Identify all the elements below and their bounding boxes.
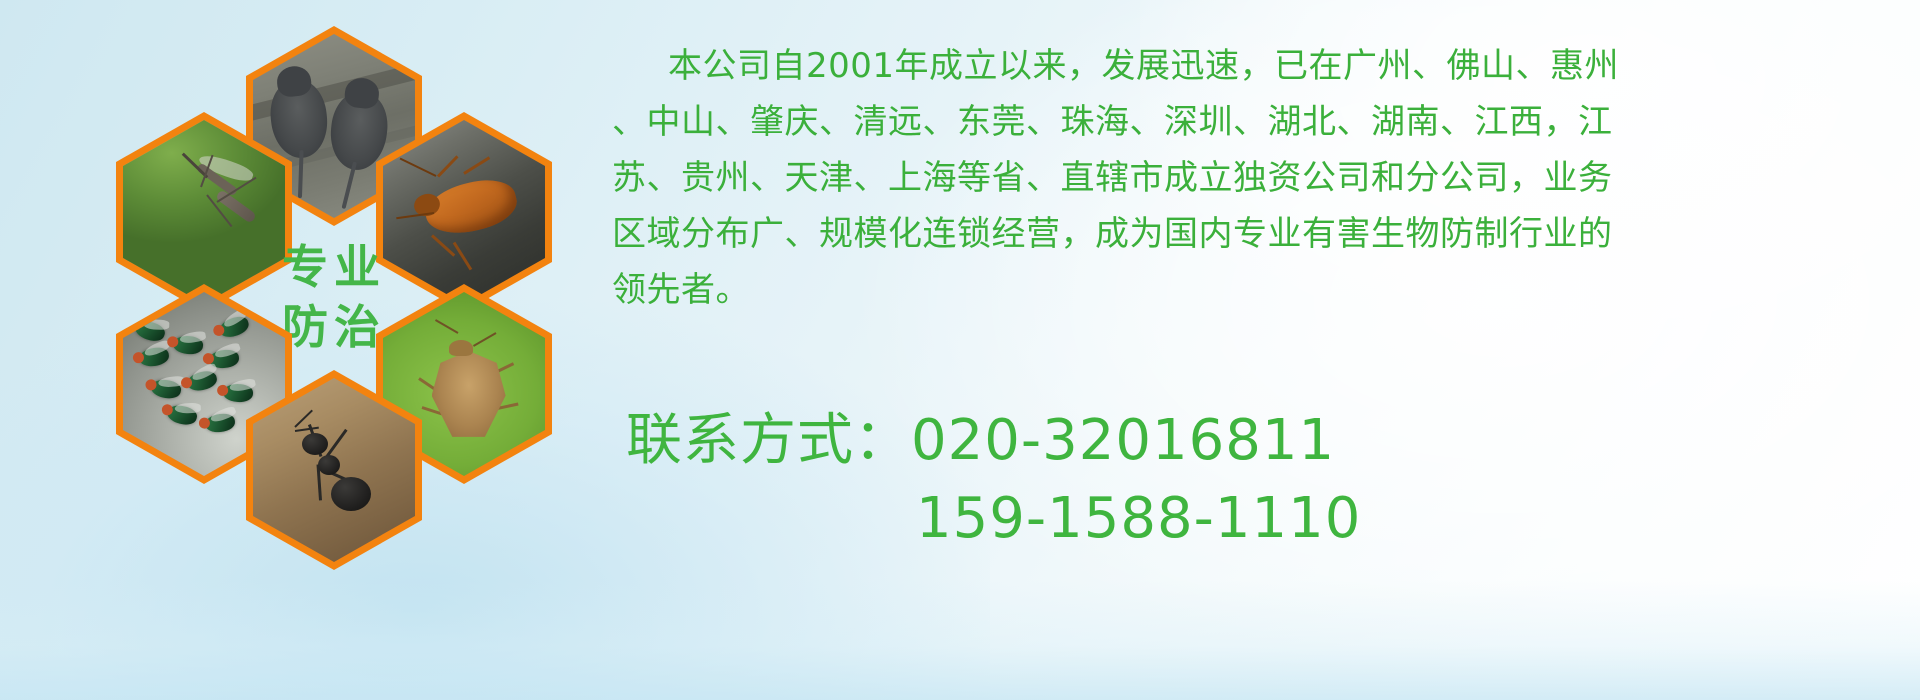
intro-line-3: 苏、贵州、天津、上海等省、直辖市成立独资公司和分公司，业务 <box>612 150 1902 206</box>
ant-photo <box>253 378 415 562</box>
intro-line-4: 区域分布广、规模化连锁经营，成为国内专业有害生物防制行业的 <box>612 206 1902 262</box>
center-label-line2: 防治 <box>282 298 386 358</box>
intro-line-5: 领先者。 <box>612 262 1902 318</box>
contact-block: 联系方式：020-32016811 159-1588-1110 <box>626 402 1826 558</box>
contact-phone-mobile[interactable]: 159-1588-1110 <box>626 480 1826 558</box>
center-label-line1: 专业 <box>282 238 386 298</box>
intro-line-1: 本公司自2001年成立以来，发展迅速，已在广州、佛山、惠州 <box>612 38 1902 94</box>
contact-phone-landline[interactable]: 联系方式：020-32016811 <box>626 402 1826 480</box>
honeycomb-image-cluster: 专业 防治 <box>88 8 588 568</box>
banner-content: 本公司自2001年成立以来，发展迅速，已在广州、佛山、惠州 、中山、肇庆、清远、… <box>612 0 1912 700</box>
promo-banner: 专业 防治 <box>0 0 1920 700</box>
company-intro-paragraph: 本公司自2001年成立以来，发展迅速，已在广州、佛山、惠州 、中山、肇庆、清远、… <box>612 38 1902 318</box>
intro-line-2: 、中山、肇庆、清远、东莞、珠海、深圳、湖北、湖南、江西，江 <box>612 94 1902 150</box>
